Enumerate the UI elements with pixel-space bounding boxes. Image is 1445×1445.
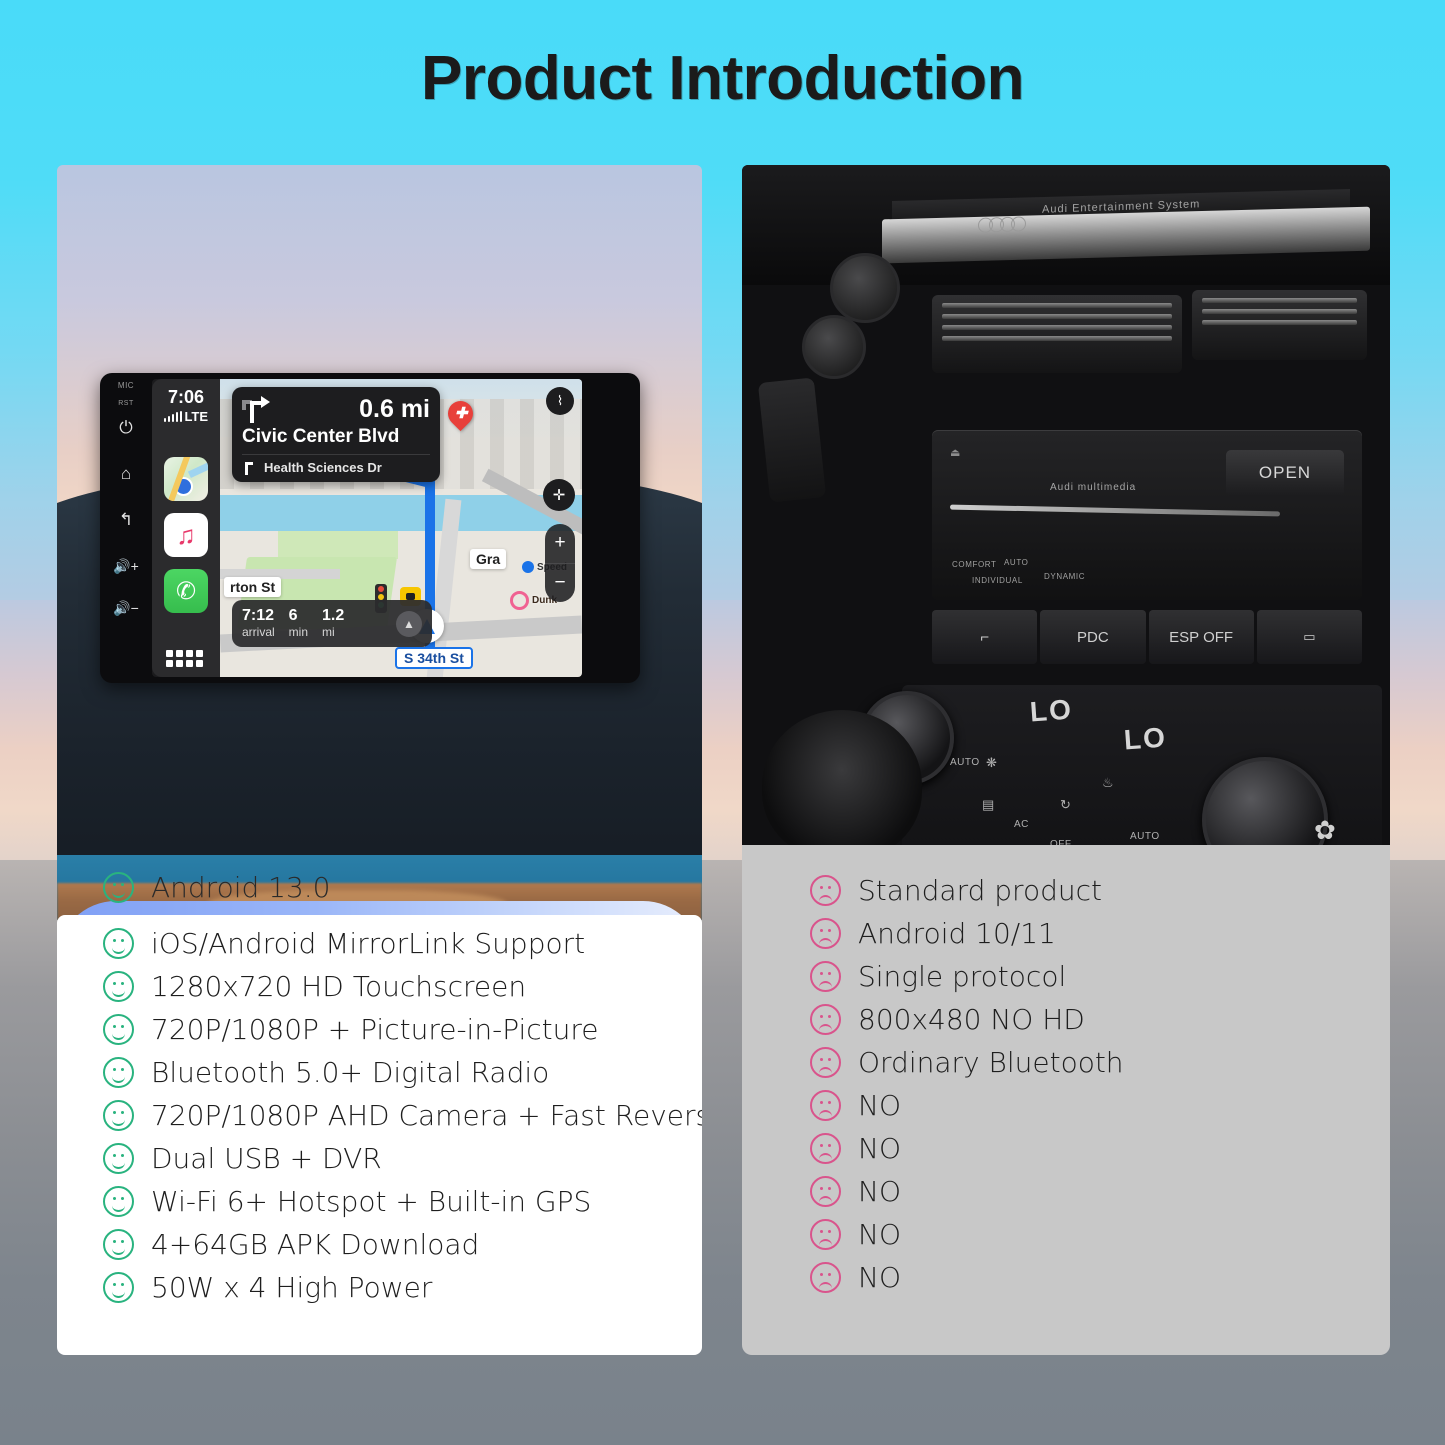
feature-row: Single protocol xyxy=(764,955,1412,998)
our-feature-first-row-overlay: Android 13.0 xyxy=(57,866,702,909)
smiley-face-icon xyxy=(103,1143,134,1174)
map-park xyxy=(278,531,398,559)
fan-icon[interactable]: ✿ xyxy=(1314,815,1336,846)
sad-face-icon xyxy=(810,918,841,949)
auto-label-left[interactable]: AUTO xyxy=(950,757,980,768)
car-head-unit: MIC RST ⏻ ⌂ ↰ 🔊+ 🔊− 7:06 LTE xyxy=(100,373,640,683)
eta-arrival: 7:12 arrival xyxy=(242,608,275,639)
our-feature-list: iOS/Android MirrorLink Support1280x720 H… xyxy=(57,922,702,1309)
smiley-face-icon xyxy=(103,872,134,903)
pdc-button[interactable]: PDC xyxy=(1040,610,1145,664)
navigation-card: 0.6 mi Civic Center Blvd Health Sciences… xyxy=(232,387,440,482)
air-vent-center xyxy=(932,295,1182,373)
our-feature-list-clip: iOS/Android MirrorLink Support1280x720 H… xyxy=(57,915,702,1355)
zoom-out-button[interactable]: − xyxy=(545,564,575,603)
feature-label: Android 13.0 xyxy=(151,871,331,904)
our-product-photo: MIC RST ⏻ ⌂ ↰ 🔊+ 🔊− 7:06 LTE xyxy=(57,165,702,920)
right-temp-display: LO xyxy=(1123,722,1168,757)
zoom-in-button[interactable]: + xyxy=(545,524,575,564)
nav-street-name: Civic Center Blvd xyxy=(242,426,430,448)
feature-row: 800x480 NO HD xyxy=(764,998,1412,1041)
eject-icon[interactable]: ⏏ xyxy=(950,446,960,459)
map-zoom-controls[interactable]: + − xyxy=(545,524,575,602)
feature-label: Bluetooth 5.0+ Digital Radio xyxy=(151,1056,549,1089)
audi-rings-icon xyxy=(982,216,1026,233)
phone-app-icon[interactable]: ✆ xyxy=(164,569,208,613)
smiley-face-icon xyxy=(103,1014,134,1045)
feature-label: NO xyxy=(858,1175,901,1208)
sad-face-icon xyxy=(810,1176,841,1207)
app-grid-icon[interactable] xyxy=(166,650,203,667)
carplay-map[interactable]: Children's Hospital of Philadelphia ✚ Ce… xyxy=(220,379,582,677)
feature-label: Android 10/11 xyxy=(858,917,1056,950)
feature-label: NO xyxy=(858,1089,901,1122)
mmi-label: Audi multimedia xyxy=(1050,482,1136,493)
steering-stalk xyxy=(758,377,826,502)
feature-label: 4+64GB APK Download xyxy=(151,1228,479,1261)
air-vent-right xyxy=(1192,290,1367,360)
power-icon[interactable]: ⏻ xyxy=(100,419,152,436)
feature-row: 720P/1080P + Picture-in-Picture xyxy=(57,1008,702,1051)
smiley-face-icon xyxy=(103,1272,134,1303)
smiley-face-icon xyxy=(103,1229,134,1260)
standard-feature-list: Standard productAndroid 10/11Single prot… xyxy=(742,869,1412,1299)
vent-slats xyxy=(1192,290,1367,360)
feature-label: 800x480 NO HD xyxy=(858,1003,1085,1036)
feature-label: Single protocol xyxy=(858,960,1066,993)
feature-label: NO xyxy=(858,1261,901,1294)
ac-label[interactable]: AC xyxy=(1014,819,1029,830)
eta-panel[interactable]: 7:12 arrival 6 min 1.2 mi ▲ xyxy=(232,600,432,647)
feature-row: Wi-Fi 6+ Hotspot + Built-in GPS xyxy=(57,1180,702,1223)
eta-distance: 1.2 mi xyxy=(322,608,344,639)
volume-up-icon[interactable]: 🔊+ xyxy=(100,559,152,573)
feature-row: Android 13.0 xyxy=(57,866,702,909)
rear-defrost-icon[interactable]: ▤ xyxy=(982,797,995,813)
network-label: LTE xyxy=(184,409,208,424)
feature-label: NO xyxy=(858,1132,901,1165)
maps-app-icon[interactable] xyxy=(164,457,208,501)
nav-next-street: Health Sciences Dr xyxy=(242,454,430,482)
feature-row: iOS/Android MirrorLink Support xyxy=(57,922,702,965)
volume-down-icon[interactable]: 🔊− xyxy=(100,601,152,615)
turn-right-icon xyxy=(242,397,268,423)
carplay-screen[interactable]: 7:06 LTE ♫ ✆ xyxy=(152,379,582,677)
speed-icon xyxy=(522,561,534,573)
esp-off-button[interactable]: ESP OFF xyxy=(1149,610,1254,664)
map-label-s34th: S 34th St xyxy=(395,647,473,669)
mic-label: MIC xyxy=(100,381,152,390)
audi-dashboard: Audi Entertainment System ⏏ Audi multime… xyxy=(742,165,1390,920)
sad-face-icon xyxy=(810,1047,841,1078)
feature-row: Ordinary Bluetooth xyxy=(764,1041,1412,1084)
defrost-icon[interactable]: ❋ xyxy=(986,755,997,771)
carplay-clock: 7:06 xyxy=(152,387,220,408)
cup-holder xyxy=(762,710,922,860)
smiley-face-icon xyxy=(103,1057,134,1088)
feature-row: Dual USB + DVR xyxy=(57,1137,702,1180)
feature-row: 720P/1080P AHD Camera + Fast Reverse xyxy=(57,1094,702,1137)
feature-label: 50W x 4 High Power xyxy=(151,1271,432,1304)
vent-slats xyxy=(932,295,1182,373)
smiley-face-icon xyxy=(103,1186,134,1217)
home-icon[interactable]: ⌂ xyxy=(100,465,152,482)
feature-row: Standard product xyxy=(764,869,1412,912)
map-label-grant: Gra xyxy=(470,549,506,569)
air-vent-round xyxy=(830,253,900,323)
standard-product-column: Audi Entertainment System ⏏ Audi multime… xyxy=(742,165,1390,920)
nav-card-top: 0.6 mi xyxy=(242,395,430,424)
pan-arrows-icon[interactable]: ✛ xyxy=(543,479,575,511)
feature-label: Standard product xyxy=(858,874,1102,907)
feature-row: 50W x 4 High Power xyxy=(57,1266,702,1309)
feature-label: NO xyxy=(858,1218,901,1251)
smiley-face-icon xyxy=(103,928,134,959)
feature-label: Dual USB + DVR xyxy=(151,1142,382,1175)
head-unit-bezel: MIC RST ⏻ ⌂ ↰ 🔊+ 🔊− xyxy=(100,373,152,683)
our-product-column: MIC RST ⏻ ⌂ ↰ 🔊+ 🔊− 7:06 LTE xyxy=(57,165,702,920)
sad-face-icon xyxy=(810,875,841,906)
route-overview-icon[interactable]: ⌇ xyxy=(546,387,574,415)
sad-face-icon xyxy=(810,1004,841,1035)
feature-row: NO xyxy=(764,1127,1412,1170)
feature-row: 4+64GB APK Download xyxy=(57,1223,702,1266)
signal-bars-icon xyxy=(164,411,183,422)
map-label-morton: rton St xyxy=(224,577,281,597)
eta-duration: 6 min xyxy=(289,608,308,639)
dunkin-icon xyxy=(510,591,529,610)
feature-row: Bluetooth 5.0+ Digital Radio xyxy=(57,1051,702,1094)
maps-pin xyxy=(174,477,193,496)
feature-label: Wi-Fi 6+ Hotspot + Built-in GPS xyxy=(151,1185,591,1218)
audi-multimedia-unit: ⏏ Audi multimedia OPEN COMFORT AUTO INDI… xyxy=(932,430,1362,600)
dashboard-button-row: ⌐ PDC ESP OFF ▭ xyxy=(932,610,1362,664)
feature-label: Ordinary Bluetooth xyxy=(858,1046,1124,1079)
air-vent-round xyxy=(802,315,866,379)
standard-product-feature-panel: Standard productAndroid 10/11Single prot… xyxy=(742,845,1390,1355)
feature-row: NO xyxy=(764,1170,1412,1213)
sad-face-icon xyxy=(810,1262,841,1293)
auto-label-right[interactable]: AUTO xyxy=(1130,831,1160,842)
back-icon[interactable]: ↰ xyxy=(100,511,152,528)
drive-mode-auto: AUTO xyxy=(1004,558,1028,567)
seat-heat-icon[interactable]: ♨ xyxy=(1102,775,1114,791)
cd-slot xyxy=(950,505,1280,517)
smiley-face-icon xyxy=(103,971,134,1002)
music-app-icon[interactable]: ♫ xyxy=(164,513,208,557)
open-button[interactable]: OPEN xyxy=(1226,450,1344,496)
feature-row: NO xyxy=(764,1213,1412,1256)
drive-mode-comfort: COMFORT xyxy=(952,560,997,569)
smiley-face-icon xyxy=(103,1100,134,1131)
feature-label: 1280x720 HD Touchscreen xyxy=(151,970,526,1003)
left-temp-display: LO xyxy=(1029,694,1074,729)
carplay-signal: LTE xyxy=(152,409,220,424)
feature-label: 720P/1080P + Picture-in-Picture xyxy=(151,1013,598,1046)
turn-right-small-icon xyxy=(242,460,257,475)
sad-face-icon xyxy=(810,1133,841,1164)
sad-face-icon xyxy=(810,1219,841,1250)
drive-mode-dynamic: DYNAMIC xyxy=(1044,572,1085,581)
feature-label: 720P/1080P AHD Camera + Fast Reverse xyxy=(151,1099,702,1132)
sad-face-icon xyxy=(810,1090,841,1121)
page-title: Product Introduction xyxy=(0,43,1445,114)
drive-mode-individual: INDIVIDUAL xyxy=(972,576,1023,585)
feature-row: Android 10/11 xyxy=(764,912,1412,955)
feature-row: NO xyxy=(764,1256,1412,1299)
sad-face-icon xyxy=(810,961,841,992)
reset-label: RST xyxy=(100,400,152,407)
drive-select-button[interactable]: ⌐ xyxy=(932,610,1037,664)
feature-row: 1280x720 HD Touchscreen xyxy=(57,965,702,1008)
carplay-sidebar: 7:06 LTE ♫ ✆ xyxy=(152,379,220,677)
standard-product-photo: Audi Entertainment System ⏏ Audi multime… xyxy=(742,165,1390,920)
feature-row: NO xyxy=(764,1084,1412,1127)
nav-distance: 0.6 mi xyxy=(359,395,430,424)
feature-label: iOS/Android MirrorLink Support xyxy=(151,927,585,960)
recirculate-icon[interactable]: ↻ xyxy=(1060,797,1071,813)
chevron-up-icon[interactable]: ▲ xyxy=(396,611,422,637)
camera-icon[interactable]: ▭ xyxy=(1257,610,1362,664)
